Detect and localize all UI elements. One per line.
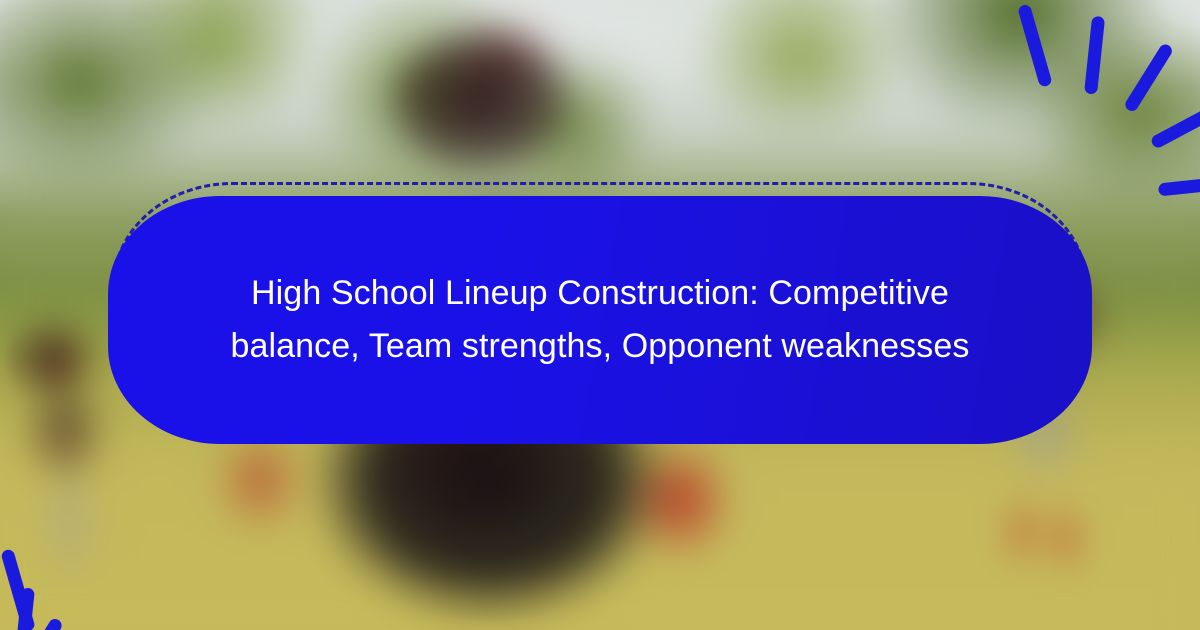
- burst-ray: [1017, 3, 1053, 87]
- burst-ray: [1149, 104, 1200, 150]
- sparkle-burst-top-right: [1012, 0, 1200, 182]
- social-card-canvas: High School Lineup Construction: Competi…: [0, 0, 1200, 630]
- card-body: High School Lineup Construction: Competi…: [108, 196, 1092, 444]
- sparkle-burst-bottom-left: [0, 448, 188, 630]
- burst-ray: [1084, 16, 1105, 95]
- title-card: High School Lineup Construction: Competi…: [108, 182, 1092, 448]
- page-title: High School Lineup Construction: Competi…: [154, 267, 1046, 373]
- burst-ray: [1123, 42, 1174, 113]
